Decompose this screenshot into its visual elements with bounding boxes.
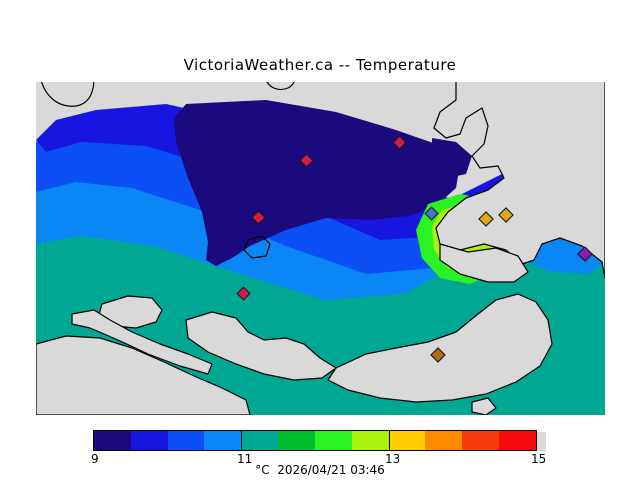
colorbar-segment-3: [168, 431, 205, 450]
colorbar-segment-2: [131, 431, 168, 450]
page-root: VictoriaWeather.ca -- Temperature: [0, 0, 640, 480]
map-canvas: [36, 82, 605, 415]
colorbar-segment-11: [462, 431, 499, 450]
colorbar-gradient: [93, 430, 537, 451]
temperature-map[interactable]: [36, 82, 605, 415]
colorbar-caption: °C 2026/04/21 03:46: [0, 463, 640, 477]
colorbar-segment-8: [352, 431, 389, 450]
colorbar: [93, 430, 545, 451]
colorbar-segment-6: [278, 431, 315, 450]
colorbar-segment-4: [204, 431, 241, 450]
colorbar-segment-12: [499, 431, 536, 450]
page-title: VictoriaWeather.ca -- Temperature: [0, 56, 640, 74]
colorbar-segment-1: [94, 431, 131, 450]
colorbar-segment-7: [315, 431, 352, 450]
colorbar-segment-5: [241, 431, 278, 450]
colorbar-segment-9: [389, 431, 426, 450]
colorbar-overflow-tail: [537, 432, 546, 451]
colorbar-divider-13: [389, 430, 390, 451]
colorbar-divider-11: [241, 430, 242, 451]
colorbar-segment-10: [425, 431, 462, 450]
